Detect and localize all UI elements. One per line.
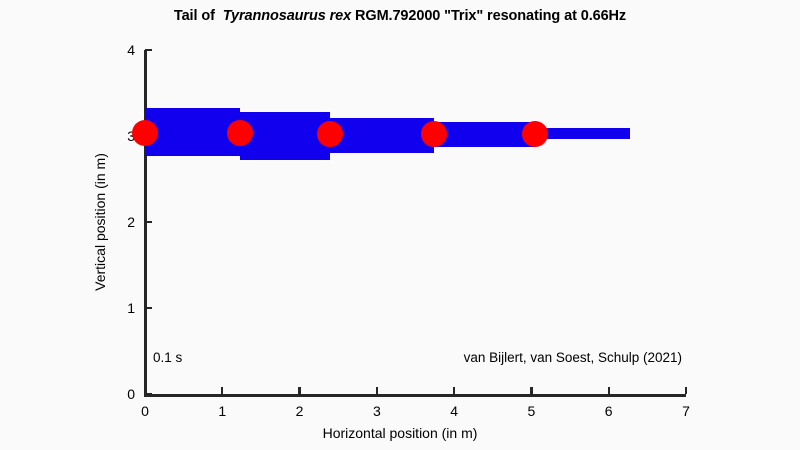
x-tick-label: 7	[666, 404, 706, 418]
x-tick-mark	[453, 387, 455, 394]
x-tick-mark	[608, 387, 610, 394]
tail-segment	[434, 122, 535, 147]
x-tick-mark	[298, 387, 300, 394]
y-tick-label: 4	[95, 43, 135, 57]
x-tick-label: 0	[125, 404, 165, 418]
joint-marker	[227, 120, 253, 146]
x-tick-label: 5	[511, 404, 551, 418]
joint-marker	[421, 121, 447, 147]
x-tick-mark	[376, 387, 378, 394]
tail-segment	[145, 108, 240, 156]
y-tick-label: 1	[95, 301, 135, 315]
joint-marker	[522, 121, 548, 147]
x-axis-title: Horizontal position (in m)	[0, 425, 800, 441]
x-tick-mark	[221, 387, 223, 394]
x-axis-line	[144, 394, 686, 397]
joint-marker	[132, 120, 158, 146]
joint-marker	[317, 121, 343, 147]
figure-canvas: Tail of Tyrannosaurus rex RGM.792000 "Tr…	[0, 0, 800, 450]
time-annotation: 0.1 s	[153, 350, 182, 365]
x-tick-label: 4	[434, 404, 474, 418]
y-tick-label: 0	[95, 387, 135, 401]
x-tick-mark	[685, 387, 687, 394]
x-tick-label: 3	[357, 404, 397, 418]
y-tick-mark	[145, 49, 152, 51]
y-tick-mark	[145, 307, 152, 309]
x-tick-label: 6	[589, 404, 629, 418]
x-tick-label: 1	[202, 404, 242, 418]
title-prefix: Tail of	[174, 8, 215, 24]
title-suffix: RGM.792000 "Trix" resonating at 0.66Hz	[355, 8, 626, 24]
tail-segment	[535, 128, 629, 139]
y-tick-label: 2	[95, 215, 135, 229]
x-tick-mark	[144, 387, 146, 394]
y-tick-mark	[145, 221, 152, 223]
plot-area: 01234 01234567 0.1 s van Bijlert, van So…	[145, 50, 686, 394]
tail-segment	[330, 118, 434, 153]
x-tick-mark	[530, 387, 532, 394]
x-tick-label: 2	[280, 404, 320, 418]
citation-annotation: van Bijlert, van Soest, Schulp (2021)	[464, 350, 682, 365]
y-tick-label: 3	[95, 129, 135, 143]
figure-title: Tail of Tyrannosaurus rex RGM.792000 "Tr…	[0, 8, 800, 24]
title-taxon: Tyrannosaurus rex	[223, 8, 351, 24]
